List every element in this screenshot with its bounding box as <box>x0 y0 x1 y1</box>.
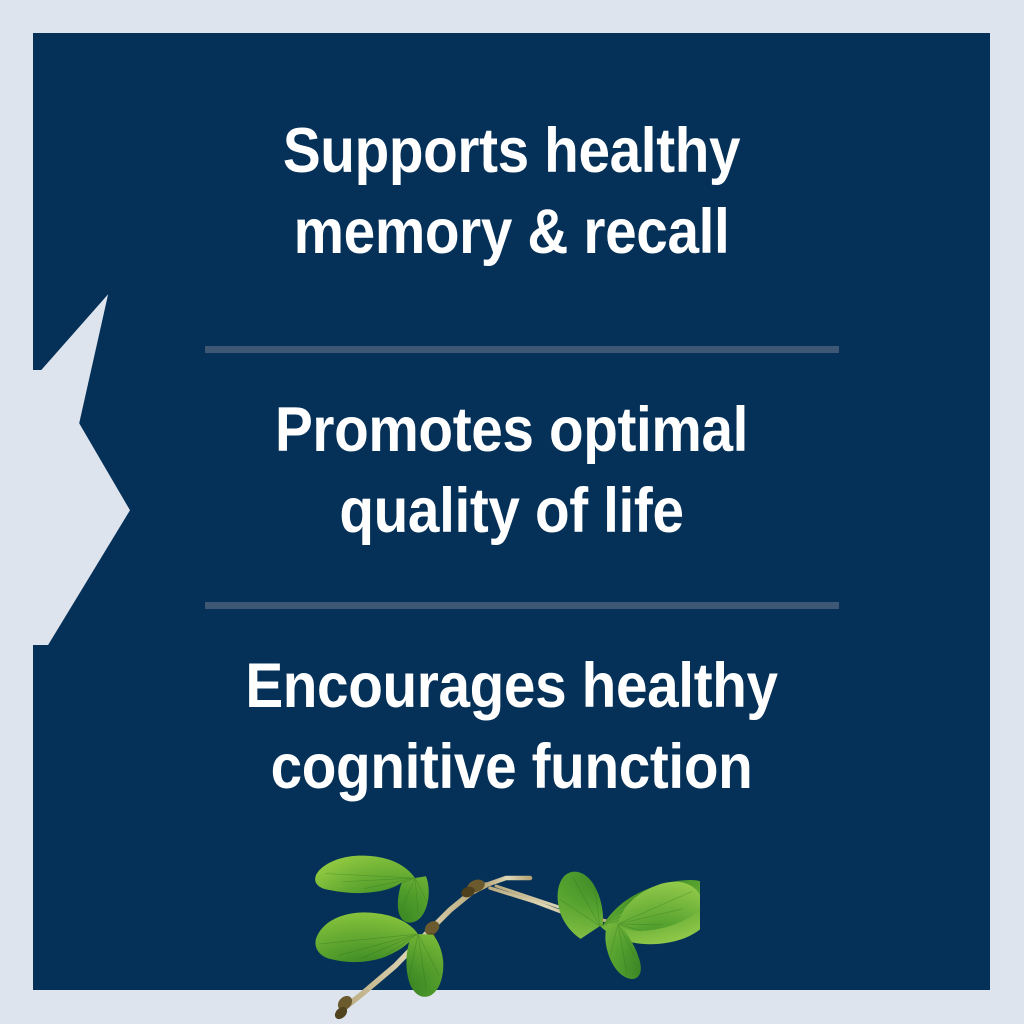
benefit-line: cognitive function <box>81 727 942 808</box>
benefit-item-cognitive-function: Encourages healthy cognitive function <box>81 646 942 807</box>
benefit-line: memory & recall <box>81 192 942 273</box>
benefit-line: Encourages healthy <box>81 646 942 727</box>
benefit-line: Supports healthy <box>81 111 942 192</box>
promo-graphic: Supports healthy memory & recall Promote… <box>0 0 1024 1024</box>
benefit-divider <box>205 602 839 609</box>
benefit-item-quality-of-life: Promotes optimal quality of life <box>81 390 942 551</box>
benefit-item-supports-memory: Supports healthy memory & recall <box>81 111 942 272</box>
benefit-divider <box>205 346 839 353</box>
benefit-line: quality of life <box>81 471 942 552</box>
benefit-line: Promotes optimal <box>81 390 942 471</box>
benefits-stack: Supports healthy memory & recall Promote… <box>33 33 990 990</box>
